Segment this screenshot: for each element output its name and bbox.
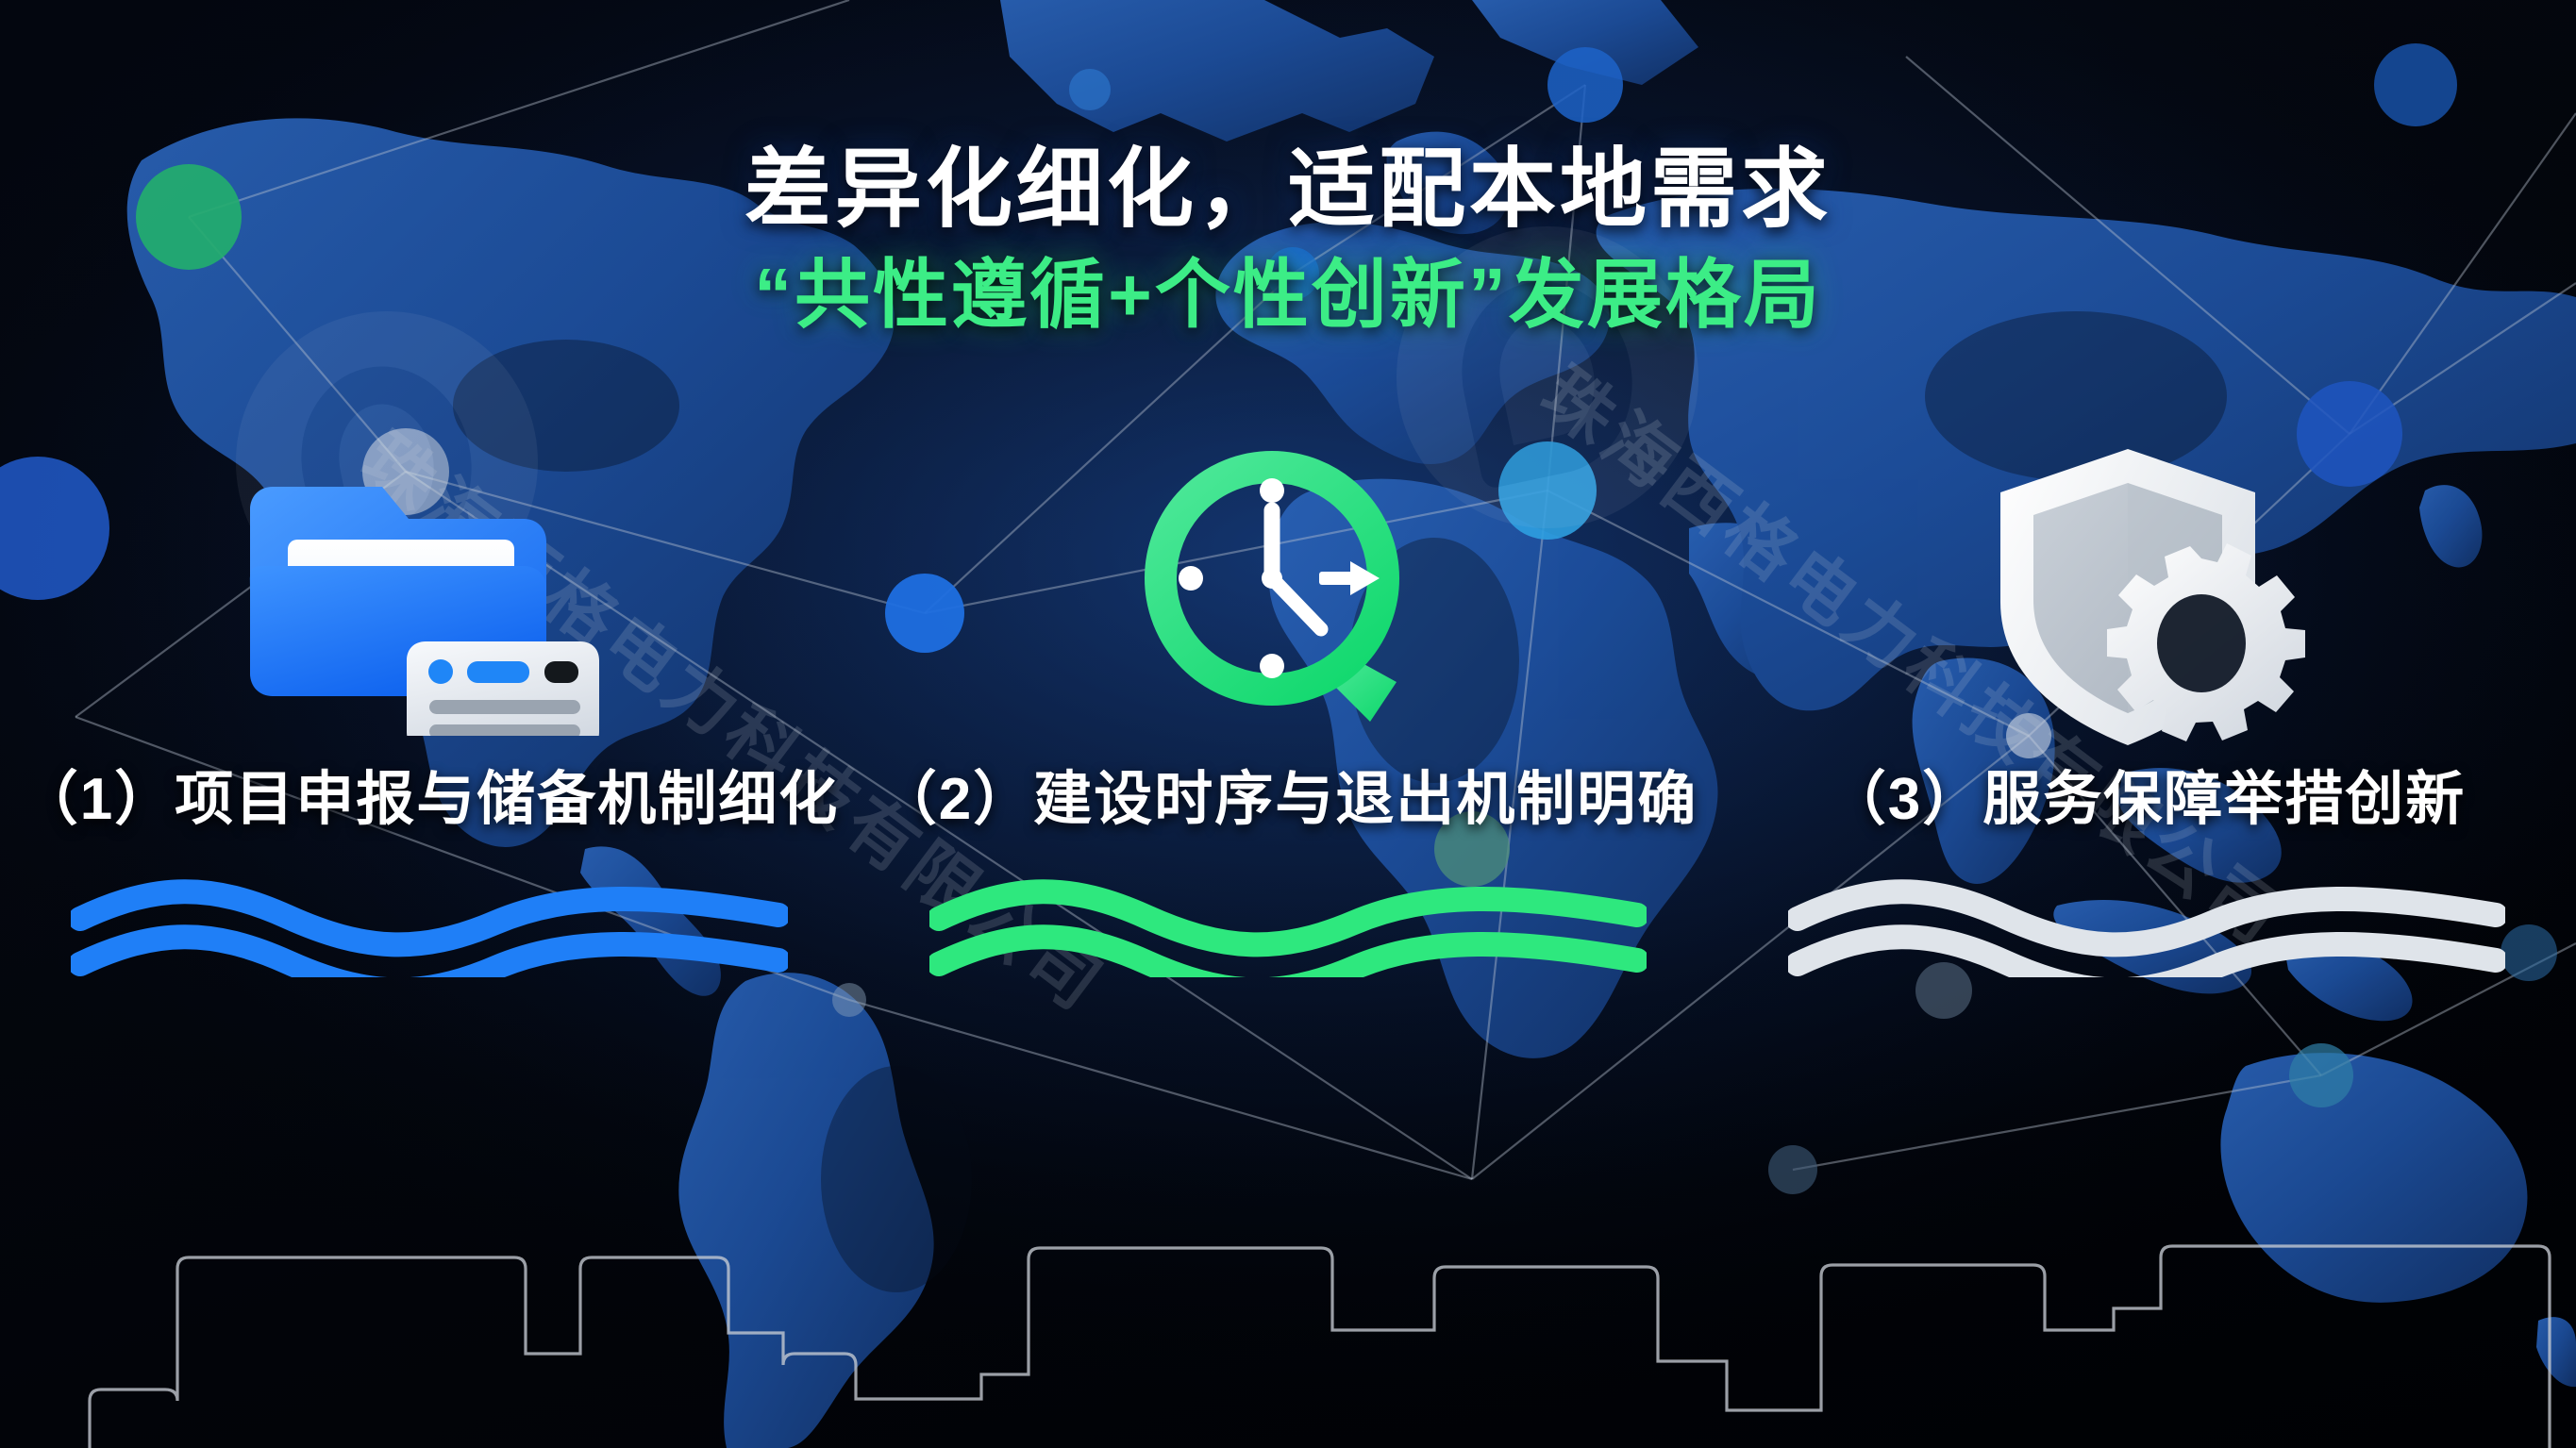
feature-column-2: （2）建设时序与退出机制明确 [859, 443, 1717, 982]
feature-caption-2: （2）建设时序与退出机制明确 [878, 751, 1698, 836]
title-block: 差异化细化，适配本地需求 “共性遵循+个性创新”发展格局 [0, 141, 2576, 339]
feature-column-1: （1）项目申报与储备机制细化 [0, 443, 859, 982]
card-dot-icon [428, 659, 453, 684]
wave-container-1 [71, 874, 788, 982]
page-title: 差异化细化，适配本地需求 [0, 141, 2576, 239]
icon-container-2 [1132, 443, 1444, 745]
icon-container-3 [1986, 443, 2307, 745]
page-subtitle: “共性遵循+个性创新”发展格局 [0, 252, 2576, 339]
wave-silver-icon [1788, 874, 2505, 977]
feature-caption-3: （3）服务保障举措创新 [1828, 751, 2466, 836]
icon-container-1 [241, 443, 618, 745]
feature-column-3: （3）服务保障举措创新 [1717, 443, 2576, 982]
feature-columns: （1）项目申报与储备机制细化 [0, 443, 2576, 982]
slide-root: 珠海西格电力科技有限公司 珠海西格电力科技有限公司 差异化细化，适配本地需求 “… [0, 0, 2576, 1448]
city-skyline-outline [0, 1165, 2576, 1448]
wave-green-icon [929, 874, 1647, 977]
feature-caption-1: （1）项目申报与储备机制细化 [20, 751, 839, 836]
folder-document-icon [241, 453, 618, 736]
wave-container-3 [1788, 874, 2505, 982]
shield-gear-icon [1986, 434, 2307, 755]
wave-container-2 [929, 874, 1647, 982]
clock-search-icon [1132, 439, 1444, 750]
wave-blue-icon [71, 874, 788, 977]
